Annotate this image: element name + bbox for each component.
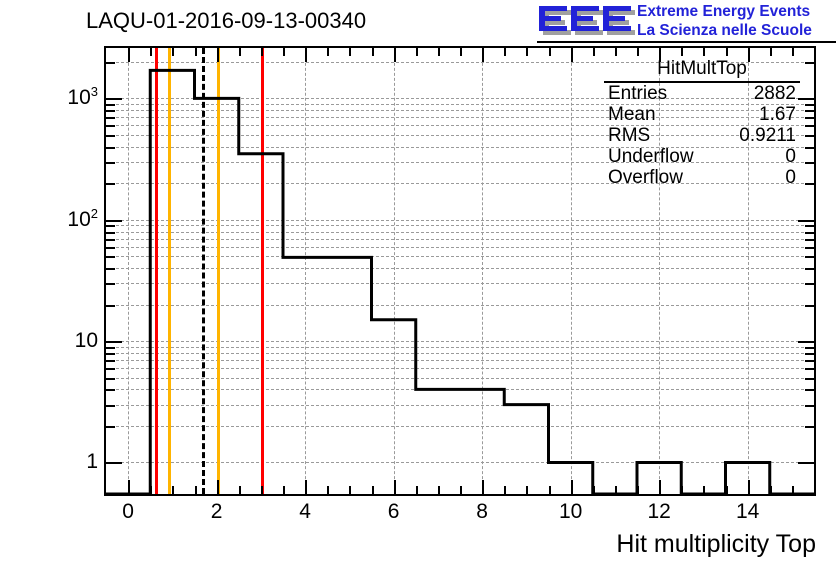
y-axis-tick [106,104,115,106]
x-tick-label: 10 [559,500,582,524]
eee-logo: Extreme Energy Events La Scienza nelle S… [537,2,836,42]
x-axis-tick [593,486,595,494]
x-axis-tick [438,48,440,56]
x-axis-tick [482,48,484,62]
x-axis-tick [217,480,219,494]
y-axis-tick [805,368,814,370]
y-axis-tick [805,183,814,185]
x-axis-tick [416,486,418,494]
y-tick-label: 102 [67,208,98,232]
y-axis-tick [805,283,814,285]
x-axis-tick [748,480,750,494]
x-axis-tick [659,480,661,494]
x-axis-tick [283,48,285,56]
y-axis-tick [106,389,115,391]
stats-title: HitMultTop [604,58,800,83]
x-axis-tick [726,48,728,56]
x-axis-tick [394,480,396,494]
x-axis-tick [128,480,130,494]
x-axis-tick [460,486,462,494]
x-axis-tick [195,486,197,494]
y-axis-tick [805,147,814,149]
stats-key: Entries [608,84,667,103]
x-axis-tick [681,48,683,56]
x-axis-tick [327,48,329,56]
y-axis-tick [106,268,115,270]
x-axis-tick [372,486,374,494]
x-axis-tick [482,480,484,494]
x-axis-tick [637,486,639,494]
x-tick-label: 0 [122,500,134,524]
y-axis-tick [805,225,814,227]
y-axis-tick [106,147,115,149]
stats-row: Overflow0 [604,167,800,188]
y-axis-tick [106,98,122,100]
x-axis-tick [549,48,551,56]
eee-logo-text: Extreme Energy Events La Scienza nelle S… [637,2,836,40]
x-axis-tick [792,486,794,494]
x-axis-tick [637,48,639,56]
y-axis-tick [106,341,122,343]
y-axis-tick [106,378,115,380]
y-axis-tick [106,220,122,222]
x-axis-tick [261,48,263,56]
x-axis-tick [239,486,241,494]
x-axis-tick [283,486,285,494]
x-axis-tick [394,48,396,62]
y-axis-tick [798,462,814,464]
y-axis-tick [805,232,814,234]
y-axis-tick [805,239,814,241]
y-axis-tick [805,426,814,428]
y-axis-tick [106,426,115,428]
x-axis-tick [372,48,374,56]
y-axis-tick [106,462,122,464]
x-axis-tick [305,48,307,62]
x-tick-label: 6 [388,500,400,524]
x-axis-tick [703,486,705,494]
stats-box: HitMultTop Entries2882Mean1.67RMS0.9211U… [604,58,800,188]
x-axis-tick [593,48,595,56]
y-axis-tick [106,135,115,137]
y-axis-tick [805,268,814,270]
stats-row: Entries2882 [604,83,800,104]
y-axis-tick [805,117,814,119]
x-tick-label: 8 [476,500,488,524]
x-axis-title: Hit multiplicity Top [616,530,816,559]
stats-key: Mean [608,105,656,124]
stats-value: 2882 [754,84,796,103]
x-axis-tick [217,48,219,62]
x-axis-tick [615,486,617,494]
x-axis-tick [681,486,683,494]
x-axis-tick [305,480,307,494]
x-axis-tick [416,48,418,56]
y-axis-tick [805,353,814,355]
logo-line-1: Extreme Energy Events [637,2,836,21]
x-axis-tick [349,48,351,56]
x-axis-tick [327,486,329,494]
y-axis-tick [805,135,814,137]
y-axis-tick [805,162,814,164]
x-axis-tick [150,486,152,494]
x-axis-tick [792,48,794,56]
stats-value: 0.9211 [739,126,796,145]
x-axis-tick [504,48,506,56]
x-axis-tick [239,48,241,56]
stats-value: 0 [785,147,796,166]
y-axis-tick [106,283,115,285]
stats-rows: Entries2882Mean1.67RMS0.9211Underflow0Ov… [604,83,800,188]
x-tick-label: 2 [211,500,223,524]
y-axis-tick [805,305,814,307]
x-axis-tick [726,486,728,494]
x-axis-tick [172,486,174,494]
y-axis-tick [106,239,115,241]
x-axis-tick [261,486,263,494]
x-axis-tick [349,486,351,494]
y-axis-tick [106,125,115,127]
root-canvas: LAQU-01-2016-09-13-00340 [0,0,836,572]
y-tick-label: 1 [86,450,98,474]
y-axis-tick [106,360,115,362]
y-axis-tick [805,378,814,380]
logo-underline [537,41,836,43]
stats-key: Underflow [608,147,694,166]
x-axis-tick [571,48,573,62]
y-axis-tick [805,110,814,112]
y-axis-tick [805,256,814,258]
stats-row: RMS0.9211 [604,125,800,146]
x-tick-label: 4 [299,500,311,524]
y-axis-tick [106,225,115,227]
x-axis-tick [526,486,528,494]
y-tick-label: 103 [67,86,98,110]
y-axis-tick [106,347,115,349]
y-axis-tick [106,305,115,307]
y-axis-tick [805,347,814,349]
x-axis-tick [571,480,573,494]
x-axis-tick [504,486,506,494]
y-axis-tick [798,220,814,222]
y-axis-tick [106,117,115,119]
x-axis-tick [128,48,130,62]
x-axis-tick [770,486,772,494]
y-axis-tick [106,368,115,370]
y-axis-tick [805,62,814,64]
stats-row: Underflow0 [604,146,800,167]
x-axis-tick [172,48,174,56]
y-axis-tick [106,353,115,355]
stats-value: 0 [785,168,796,187]
y-axis-tick [106,162,115,164]
x-tick-label: 14 [736,500,759,524]
y-axis-tick [106,256,115,258]
y-axis-tick [106,247,115,249]
x-tick-label: 12 [647,500,670,524]
y-axis-tick [106,183,115,185]
y-axis-tick [798,98,814,100]
stats-value: 1.67 [759,105,796,124]
x-axis-tick [549,486,551,494]
y-tick-label: 10 [75,329,98,353]
y-axis-tick [106,232,115,234]
logo-line-2: La Scienza nelle Scuole [637,21,836,40]
y-axis-tick [805,247,814,249]
y-axis-tick [805,389,814,391]
stats-key: Overflow [608,168,683,187]
y-axis-tick [106,62,115,64]
page-title: LAQU-01-2016-09-13-00340 [86,8,366,34]
y-axis-tick [106,405,115,407]
stats-key: RMS [608,126,650,145]
x-axis-tick [770,48,772,56]
y-axis-tick [805,125,814,127]
x-axis-tick [195,48,197,56]
y-axis-tick [805,360,814,362]
x-axis-tick [460,48,462,56]
x-axis-tick [526,48,528,56]
eee-logo-mark-icon [537,3,635,39]
x-axis-tick [703,48,705,56]
x-axis-tick [438,486,440,494]
y-axis-tick [805,405,814,407]
x-axis-tick [615,48,617,56]
x-axis-tick [150,48,152,56]
y-axis-tick [798,341,814,343]
y-axis-tick [106,110,115,112]
y-axis-tick [805,104,814,106]
stats-row: Mean1.67 [604,104,800,125]
